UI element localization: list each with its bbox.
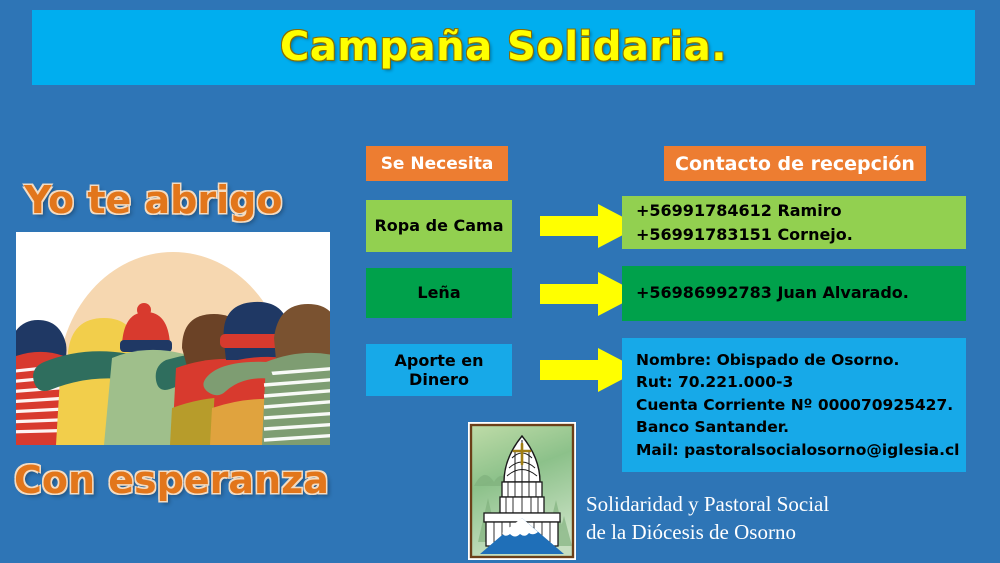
footer-line-2: de la Diócesis de Osorno [586, 518, 829, 546]
need-item-lena: Leña [366, 268, 512, 318]
title-banner: Campaña Solidaria. [32, 10, 975, 85]
diocese-logo-icon [468, 422, 576, 560]
contact-info-ropa-de-cama: +56991784612 Ramiro +56991783151 Cornejo… [622, 196, 966, 249]
contact-line: +56991784612 Ramiro [636, 199, 952, 222]
contact-line: +56991783151 Cornejo. [636, 223, 952, 246]
header-contacto-recepcion: Contacto de recepción [664, 146, 926, 181]
need-line: Aporte en [394, 351, 483, 370]
contact-line: Cuenta Corriente Nº 000070925427. [636, 394, 952, 416]
need-line: Dinero [394, 370, 483, 389]
contact-info-aporte-en-dinero: Nombre: Obispado de Osorno. Rut: 70.221.… [622, 338, 966, 472]
people-embracing-illustration [16, 232, 330, 445]
contact-info-lena: +56986992783 Juan Alvarado. [622, 266, 966, 321]
need-item-ropa-de-cama: Ropa de Cama [366, 200, 512, 252]
contact-line: Mail: pastoralsocialosorno@iglesia.cl [636, 439, 952, 461]
contact-line: Banco Santander. [636, 416, 952, 438]
contact-line: +56986992783 Juan Alvarado. [636, 282, 952, 304]
page-title: Campaña Solidaria. [32, 10, 975, 85]
slogan-bottom: Con esperanza [14, 458, 329, 502]
contact-line: Rut: 70.221.000-3 [636, 371, 952, 393]
slogan-top: Yo te abrigo [24, 178, 282, 222]
footer-organization-name: Solidaridad y Pastoral Social de la Dióc… [586, 490, 829, 547]
contact-line: Nombre: Obispado de Osorno. [636, 349, 952, 371]
need-item-aporte-en-dinero: Aporte en Dinero [366, 344, 512, 396]
poster-canvas: Campaña Solidaria. Yo te abrigo Con espe… [0, 0, 1000, 563]
header-se-necesita: Se Necesita [366, 146, 508, 181]
footer-line-1: Solidaridad y Pastoral Social [586, 490, 829, 518]
